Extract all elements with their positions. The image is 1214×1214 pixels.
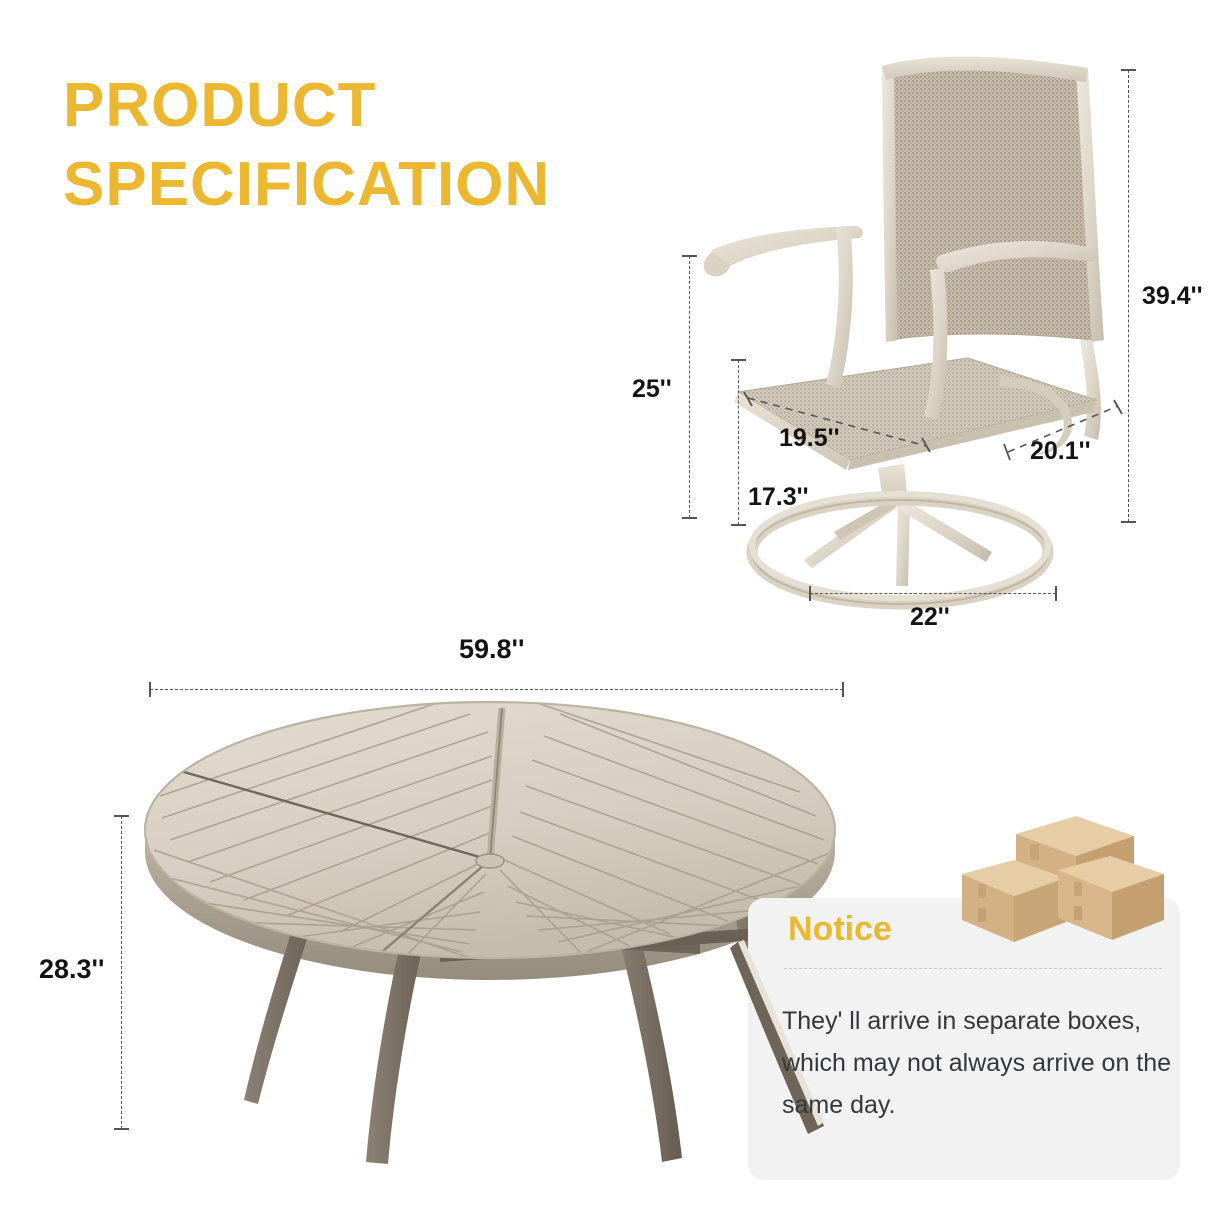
notice-divider [784,968,1162,969]
notice-body-text: They' ll arrive in separate boxes, which… [782,1000,1174,1126]
dimension-label-chair-seat-depth: 20.1'' [1030,437,1091,466]
notice-title: Notice [788,910,892,949]
cardboard-boxes-icon [958,812,1168,952]
dimension-label-chair-seat-width: 19.5'' [779,424,840,453]
dimension-label-chair-seat-height: 17.3'' [748,483,809,512]
chair-illustration [700,40,1180,610]
dimension-label-chair-base-diameter: 22'' [910,603,950,632]
dimension-label-chair-total-height: 39.4'' [1142,282,1203,311]
page-title: PRODUCT SPECIFICATION [63,66,683,225]
dimension-label-table-diameter: 59.8'' [459,634,524,665]
dimension-label-chair-seat-back-height: 25'' [632,375,672,404]
product-specification-page: PRODUCT SPECIFICATION [0,0,1214,1214]
dimension-label-table-height: 28.3'' [39,954,104,985]
